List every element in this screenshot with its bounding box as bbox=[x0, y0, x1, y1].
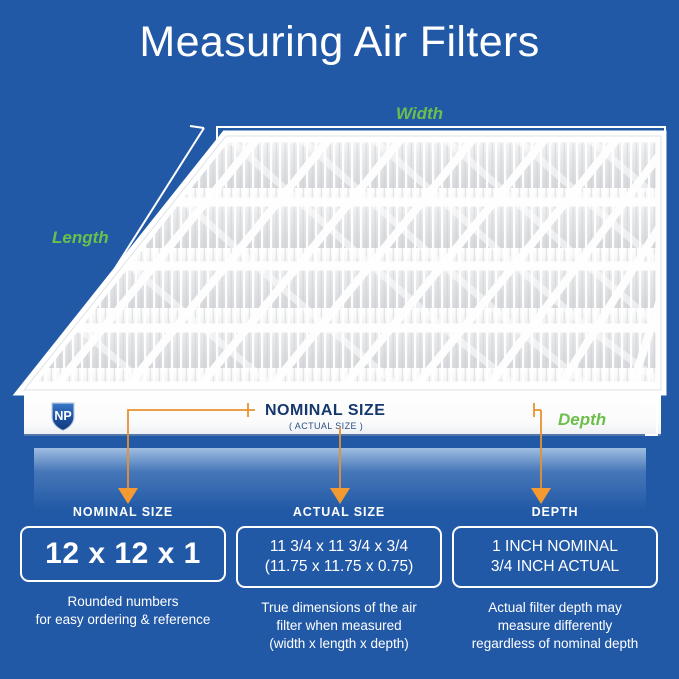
info-column-nominal-size: NOMINAL SIZE 12 x 12 x 1 Rounded numbers… bbox=[20, 505, 226, 629]
nominal-size-value-box: 12 x 12 x 1 bbox=[20, 526, 226, 582]
caption-line: filter when measured bbox=[236, 617, 442, 635]
depth-value-box: 1 INCH NOMINAL 3/4 INCH ACTUAL bbox=[452, 526, 658, 588]
value-line: 11 3/4 x 11 3/4 x 3/4 bbox=[270, 537, 408, 557]
column-heading: DEPTH bbox=[452, 505, 658, 519]
info-column-depth: DEPTH 1 INCH NOMINAL 3/4 INCH ACTUAL Act… bbox=[452, 505, 658, 653]
caption-line: True dimensions of the air bbox=[236, 599, 442, 617]
caption-line: (width x length x depth) bbox=[236, 635, 442, 653]
value-line: 12 x 12 x 1 bbox=[45, 537, 201, 571]
actual-size-value-box: 11 3/4 x 11 3/4 x 3/4 (11.75 x 11.75 x 0… bbox=[236, 526, 442, 588]
arrow-head-left bbox=[118, 488, 138, 504]
column-heading: NOMINAL SIZE bbox=[20, 505, 226, 519]
caption-line: Actual filter depth may bbox=[452, 599, 658, 617]
caption-line: regardless of nominal depth bbox=[452, 635, 658, 653]
arrow-head-right bbox=[531, 488, 551, 504]
column-caption: Rounded numbers for easy ordering & refe… bbox=[20, 593, 226, 629]
arrow-head-middle bbox=[330, 488, 350, 504]
column-heading: ACTUAL SIZE bbox=[236, 505, 442, 519]
info-column-actual-size: ACTUAL SIZE 11 3/4 x 11 3/4 x 3/4 (11.75… bbox=[236, 505, 442, 653]
column-caption: True dimensions of the air filter when m… bbox=[236, 599, 442, 653]
caption-line: for easy ordering & reference bbox=[20, 611, 226, 629]
caption-line: Rounded numbers bbox=[20, 593, 226, 611]
caption-line: measure differently bbox=[452, 617, 658, 635]
value-line: 1 INCH NOMINAL bbox=[492, 537, 618, 557]
column-caption: Actual filter depth may measure differen… bbox=[452, 599, 658, 653]
value-line: (11.75 x 11.75 x 0.75) bbox=[265, 557, 414, 577]
infographic-page: Measuring Air Filters Width Length bbox=[0, 0, 679, 679]
value-line: 3/4 INCH ACTUAL bbox=[491, 557, 619, 577]
